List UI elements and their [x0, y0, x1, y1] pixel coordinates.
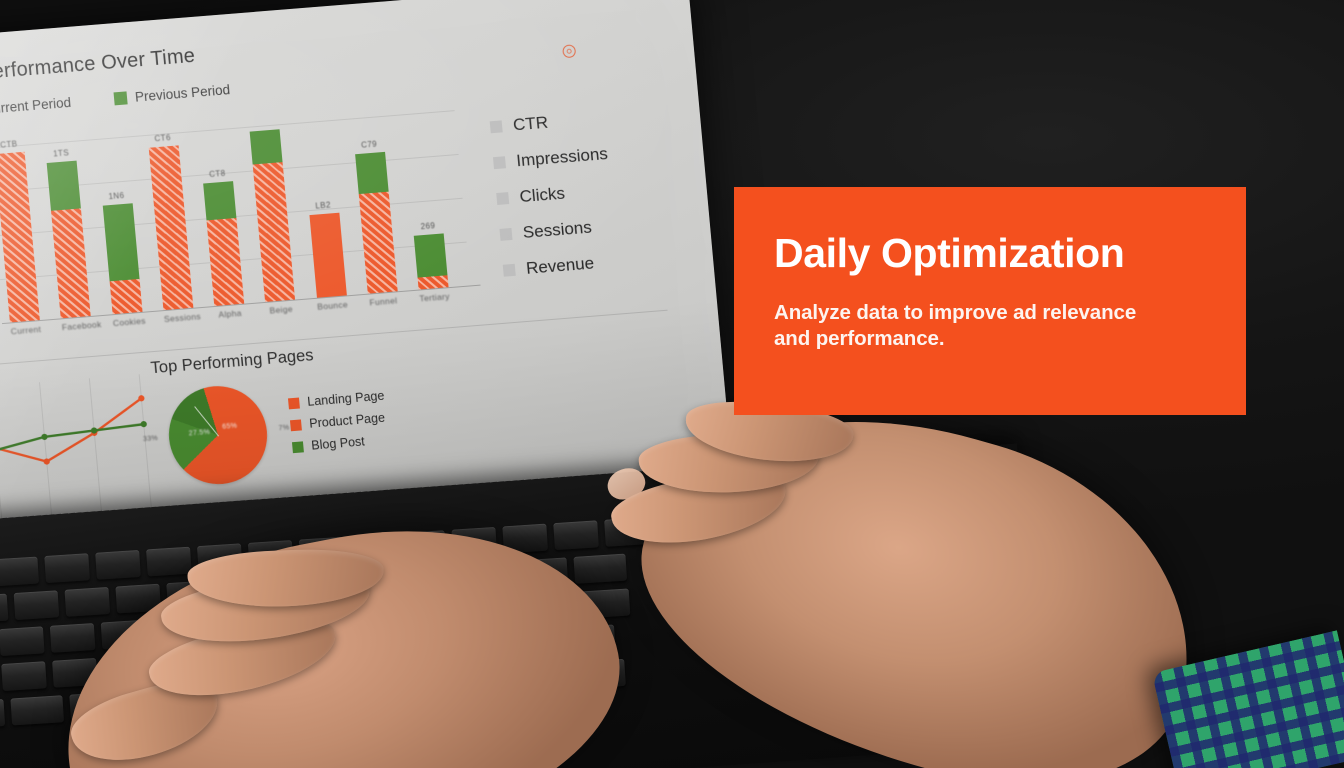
keyboard-key[interactable]: [14, 590, 60, 620]
line-series-a: [0, 398, 146, 473]
photo-scene: Performance Over Time Current Period Pre…: [0, 0, 1344, 768]
checkbox-icon[interactable]: [496, 192, 509, 205]
keyboard-key[interactable]: [0, 699, 5, 729]
pie-legend-label: Product Page: [309, 411, 386, 431]
metric-checkbox-revenue[interactable]: Revenue: [502, 244, 620, 289]
bar-segment-current: [309, 213, 346, 298]
line-series-b: [0, 424, 149, 500]
page-title: Performance Over Time: [0, 45, 196, 85]
keyboard-key[interactable]: [573, 554, 627, 584]
x-tick-label: Bounce: [317, 299, 348, 311]
bar-segment-current: [148, 145, 193, 310]
keyboard-key[interactable]: [95, 550, 141, 580]
bar-value-label: 1N6: [108, 190, 125, 200]
metric-label: Sessions: [522, 218, 593, 243]
x-tick-label: Beige: [266, 303, 297, 315]
pie-value-left: 33%: [143, 435, 159, 443]
metric-label: Revenue: [525, 253, 595, 278]
pie-chart: [165, 382, 272, 487]
keyboard-key[interactable]: [50, 623, 96, 653]
keyboard-key[interactable]: [0, 594, 8, 624]
x-tick-label: Alpha: [215, 308, 246, 320]
data-point[interactable]: [41, 434, 48, 441]
performance-over-time-panel: Performance Over Time Current Period Pre…: [0, 4, 607, 359]
bar-segment-previous: [355, 152, 389, 195]
bar-segment-current: [0, 152, 40, 323]
legend-item-previous-period[interactable]: Previous Period: [113, 82, 230, 106]
x-tick-label: Facebook: [61, 320, 92, 332]
bar-group[interactable]: [248, 108, 295, 302]
checkbox-icon[interactable]: [490, 120, 503, 133]
pie-value-right: 7%: [278, 424, 289, 432]
checkbox-icon[interactable]: [503, 264, 516, 277]
bar-segment-current: [253, 162, 295, 302]
bar-segment-previous: [203, 181, 236, 220]
bar-value-label: 1TS: [53, 149, 70, 159]
bar-group[interactable]: 269: [401, 96, 448, 290]
bar-value-label: CTB: [0, 139, 18, 149]
bar-chart-plot: CTB1TS1N6CT6CT8LB2C79269: [0, 96, 449, 322]
bar-segment-current: [109, 279, 142, 314]
bar-value-label: C79: [361, 139, 378, 149]
x-tick-label: Funnel: [368, 295, 399, 307]
callout-panel: Daily Optimization Analyze data to impro…: [734, 187, 1246, 415]
bar-value-label: 269: [420, 221, 435, 231]
x-tick-label: Cookies: [112, 316, 143, 328]
x-tick-label: Current: [10, 324, 41, 336]
bar-segment-previous: [47, 161, 81, 211]
metric-checkbox-list: CTRImpressionsClicksSessionsRevenue: [489, 100, 620, 288]
bar-value-label: LB2: [315, 201, 331, 211]
gridline: [0, 386, 2, 519]
pie-chart-legend: Landing PageProduct PageBlog Post: [287, 385, 389, 458]
keyboard-key[interactable]: [10, 695, 64, 725]
bar-segment-previous: [102, 203, 139, 282]
bar-value-label: CT8: [209, 169, 226, 179]
bar-group[interactable]: 1N6: [95, 121, 142, 315]
bar-group[interactable]: CTB: [0, 129, 40, 323]
bar-group[interactable]: 1TS: [44, 125, 91, 319]
metric-label: CTR: [512, 113, 549, 136]
legend-swatch-previous: [114, 91, 128, 105]
bar-segment-current: [206, 218, 244, 306]
checkbox-icon[interactable]: [499, 228, 512, 241]
bar-group[interactable]: LB2: [299, 104, 346, 298]
bar-segment-current: [51, 209, 91, 318]
bar-value-label: CT6: [154, 133, 171, 143]
legend-label-previous: Previous Period: [134, 82, 230, 105]
keyboard-key[interactable]: [65, 587, 111, 617]
callout-subtitle: Analyze data to improve ad relevance and…: [774, 300, 1174, 352]
x-tick-label: Tertiary: [419, 291, 450, 303]
keyboard-key[interactable]: [0, 626, 45, 656]
callout-title: Daily Optimization: [774, 233, 1206, 275]
pie-legend-swatch: [288, 397, 300, 409]
bar-group[interactable]: C79: [350, 100, 397, 294]
bar-segment-previous: [414, 234, 448, 278]
gridline: [89, 378, 101, 511]
pie-legend-label: Blog Post: [311, 434, 366, 452]
bar-group[interactable]: CT8: [197, 112, 244, 306]
pie-value-landing: 65%: [222, 423, 238, 431]
bar-segment-previous: [250, 129, 283, 164]
legend-item-current-period[interactable]: Current Period: [0, 95, 72, 119]
legend-label-current: Current Period: [0, 95, 72, 117]
keyboard-key[interactable]: [1, 661, 47, 691]
metric-label: Impressions: [516, 144, 609, 171]
keyboard-key[interactable]: [0, 557, 39, 587]
keyboard-key[interactable]: [44, 553, 90, 583]
bar-group[interactable]: CT6: [146, 117, 193, 311]
pie-legend-label: Landing Page: [307, 389, 385, 409]
pie-legend-swatch: [292, 441, 304, 453]
checkbox-icon[interactable]: [493, 156, 506, 169]
keyboard-key[interactable]: [146, 547, 192, 577]
pie-chart-title: Top Performing Pages: [150, 346, 314, 378]
bar-segment-current: [359, 192, 398, 294]
pie-legend-swatch: [290, 419, 302, 431]
gridline: [39, 382, 51, 515]
keyboard-key[interactable]: [553, 520, 599, 550]
x-tick-label: Sessions: [164, 312, 195, 324]
metric-label: Clicks: [519, 184, 566, 208]
